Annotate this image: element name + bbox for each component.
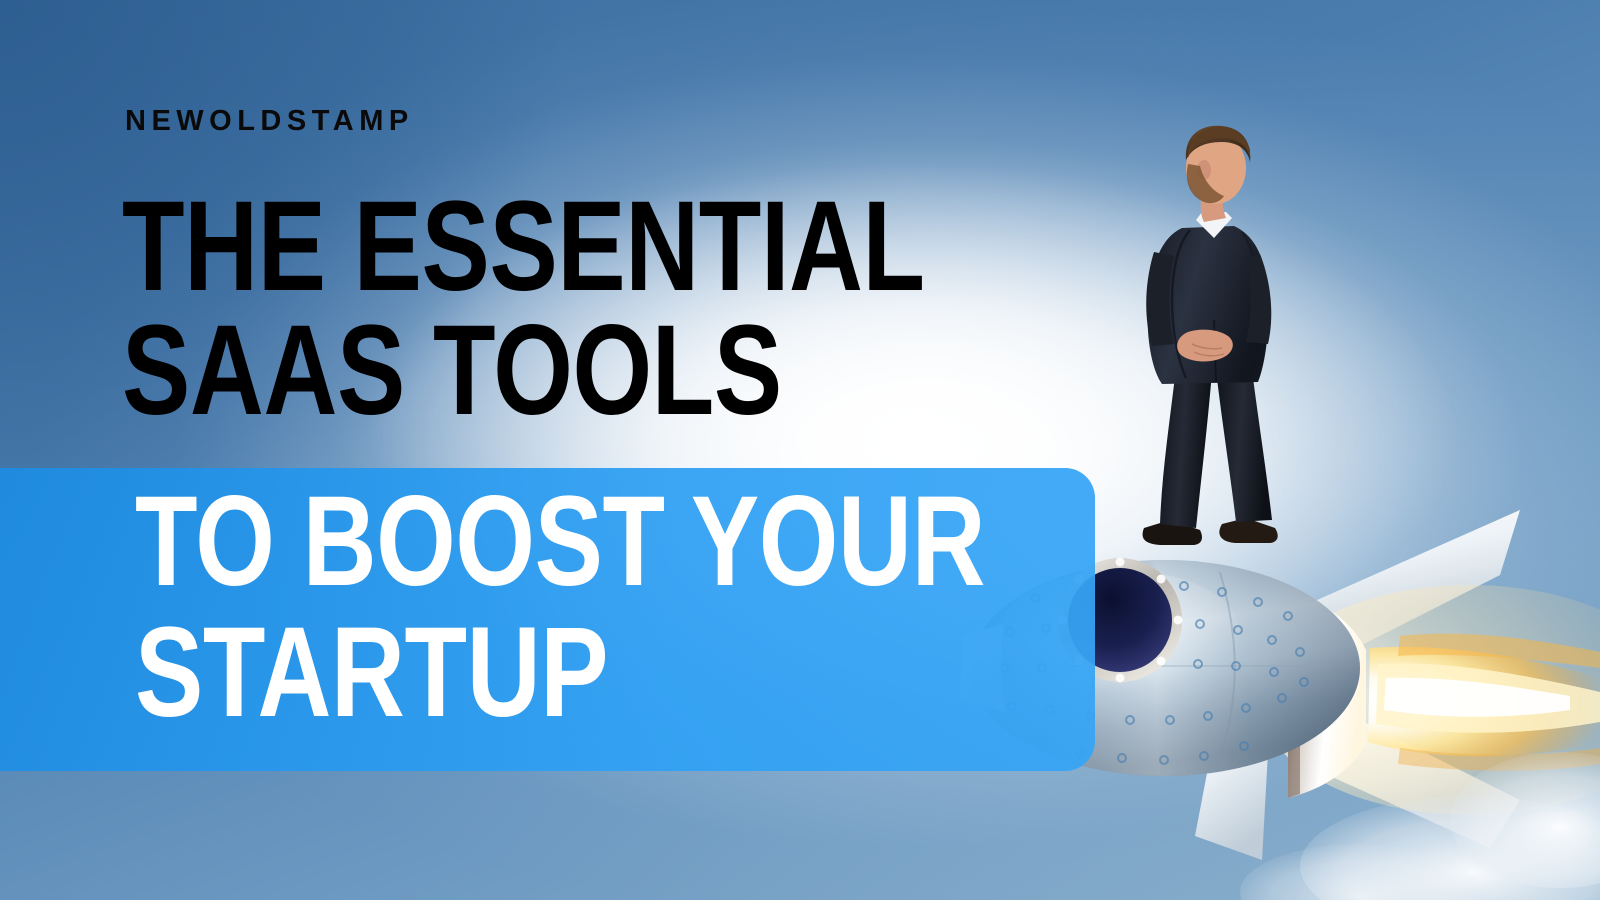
- subheadline-line-2: STARTUP: [135, 608, 935, 739]
- subheadline-line-1: TO BOOST YOUR: [135, 477, 935, 608]
- headline-line-1: THE ESSENTIAL: [122, 185, 842, 309]
- brand-logo-text: NEWOLDSTAMP: [125, 107, 414, 136]
- subheadline-block: TO BOOST YOUR STARTUP: [135, 477, 1135, 738]
- headline-line-2: SAAS TOOLS: [122, 309, 842, 433]
- businessman-svg: [1130, 120, 1320, 560]
- hands: [1177, 330, 1233, 362]
- legs: [1160, 368, 1272, 528]
- head: [1186, 126, 1250, 222]
- headline-block: THE ESSENTIAL SAAS TOOLS: [122, 185, 1022, 433]
- promo-banner-canvas: NEWOLDSTAMP THE ESSENTIAL SAAS TOOLS TO …: [0, 0, 1600, 900]
